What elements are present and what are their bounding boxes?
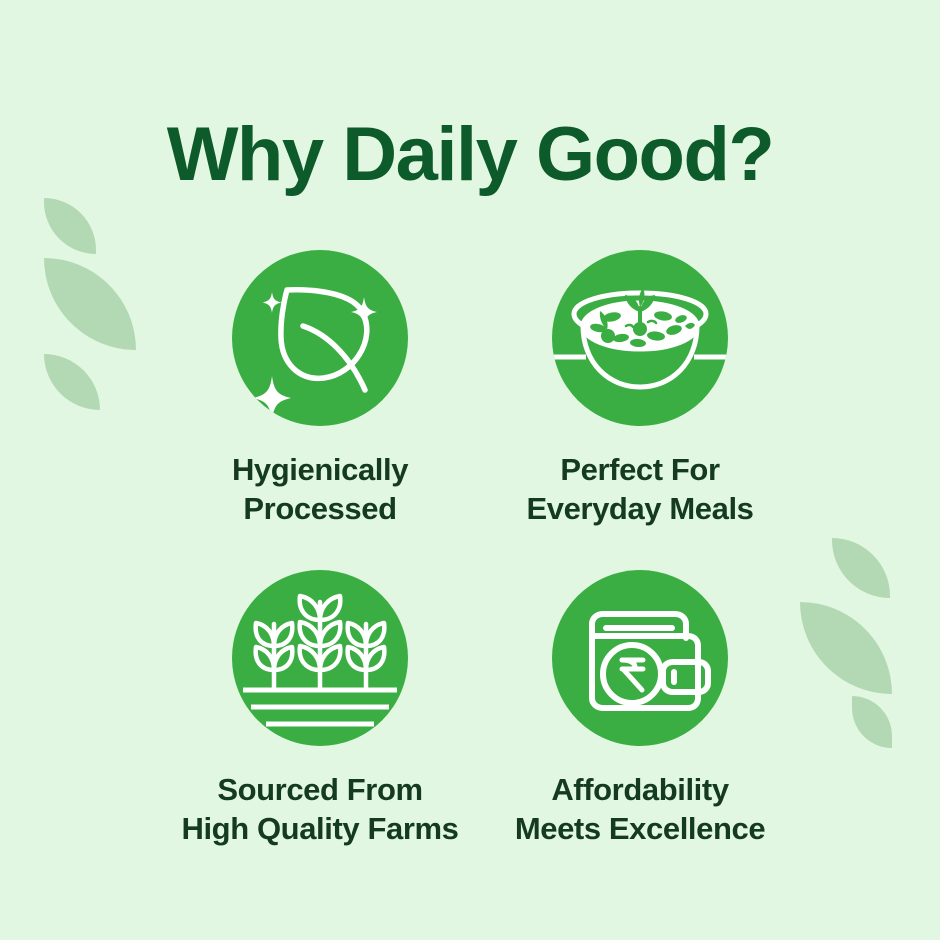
feature-item-affordability-meets-excellence[interactable]: Affordability Meets Excellence <box>480 570 800 848</box>
poster-canvas: Why Daily Good? <box>0 0 940 940</box>
page-title: Why Daily Good? <box>0 117 940 193</box>
feature-icon-circle <box>232 250 408 426</box>
feature-grid: Hygienically Processed <box>0 250 940 848</box>
farm-crops-icon <box>232 570 408 746</box>
feature-label: Hygienically Processed <box>232 450 408 528</box>
feature-label: Affordability Meets Excellence <box>515 770 765 848</box>
feature-label: Sourced From High Quality Farms <box>181 770 458 848</box>
feature-label: Perfect For Everyday Meals <box>526 450 753 528</box>
feature-icon-circle <box>552 570 728 746</box>
leaf-shape-icon <box>44 198 96 254</box>
soup-bowl-icon <box>552 250 728 426</box>
feature-icon-circle <box>232 570 408 746</box>
feature-item-perfect-for-everyday-meals[interactable]: Perfect For Everyday Meals <box>480 250 800 528</box>
wallet-rupee-icon <box>552 570 728 746</box>
feature-row: Hygienically Processed <box>0 250 940 528</box>
feature-icon-circle <box>552 250 728 426</box>
leaf-sparkle-icon <box>232 250 408 426</box>
feature-item-hygienically-processed[interactable]: Hygienically Processed <box>160 250 480 528</box>
feature-row: Sourced From High Quality Farms <box>0 570 940 848</box>
feature-item-sourced-from-high-quality-farms[interactable]: Sourced From High Quality Farms <box>160 570 480 848</box>
